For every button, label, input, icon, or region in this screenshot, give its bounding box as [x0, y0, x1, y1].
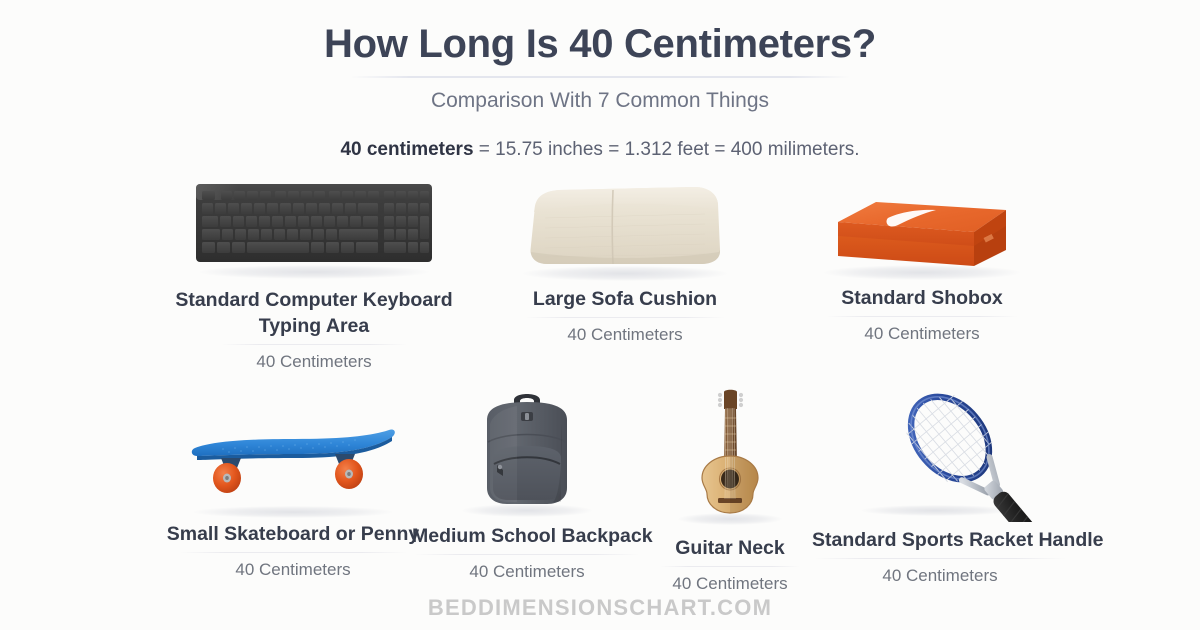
label-divider	[221, 344, 407, 345]
item-label: Standard Shobox	[790, 286, 1054, 312]
item-measure: 40 Centimeters	[790, 324, 1054, 344]
label-divider	[414, 554, 640, 555]
header: How Long Is 40 Centimeters? Comparison W…	[0, 0, 1200, 161]
tennis-racket-icon	[840, 386, 1040, 522]
item-label: Standard Computer Keyboard Typing Area	[160, 288, 468, 340]
item-label: Small Skateboard or Penny	[148, 522, 438, 548]
item-label: Guitar Neck	[648, 536, 812, 562]
keyboard-icon	[194, 178, 434, 278]
skateboard-icon	[183, 416, 403, 516]
comparison-item-tennis-racket: Standard Sports Racket Handle 40 Centime…	[812, 386, 1068, 586]
item-label: Standard Sports Racket Handle	[812, 528, 1068, 554]
conversion-equivalents: = 15.75 inches = 1.312 feet = 400 milime…	[474, 139, 860, 160]
comparison-item-backpack: Medium School Backpack 40 Centimeters	[412, 384, 642, 582]
page-subtitle: Comparison With 7 Common Things	[0, 89, 1200, 113]
title-divider	[350, 76, 850, 78]
shoebox-icon	[824, 178, 1020, 278]
comparison-item-keyboard: Standard Computer Keyboard Typing Area 4…	[160, 178, 468, 372]
label-divider	[660, 566, 800, 567]
item-measure: 40 Centimeters	[812, 566, 1068, 586]
item-measure: 40 Centimeters	[648, 574, 812, 594]
item-measure: 40 Centimeters	[492, 325, 758, 345]
footer-site-name: BEDDIMENSIONSCHART.COM	[0, 595, 1200, 621]
comparison-item-guitar: Guitar Neck 40 Centimeters	[648, 386, 812, 594]
comparison-item-shoebox: Standard Shobox 40 Centimeters	[790, 178, 1054, 344]
comparison-row-1: Standard Computer Keyboard Typing Area 4…	[0, 178, 1200, 368]
conversion-line: 40 centimeters = 15.75 inches = 1.312 fe…	[0, 139, 1200, 161]
label-divider	[814, 558, 1066, 559]
item-label: Large Sofa Cushion	[492, 287, 758, 313]
backpack-icon	[457, 384, 597, 516]
guitar-icon	[680, 386, 780, 524]
item-measure: 40 Centimeters	[412, 562, 642, 582]
conversion-value: 40 centimeters	[340, 139, 473, 160]
sofa-cushion-icon	[525, 178, 725, 278]
comparison-item-sofa-cushion: Large Sofa Cushion 40 Centimeters	[492, 178, 758, 345]
item-measure: 40 Centimeters	[160, 352, 468, 372]
label-divider	[826, 316, 1018, 317]
item-measure: 40 Centimeters	[148, 560, 438, 580]
page-title: How Long Is 40 Centimeters?	[0, 22, 1200, 66]
comparison-item-skateboard: Small Skateboard or Penny 40 Centimeters	[148, 416, 438, 580]
item-label: Medium School Backpack	[412, 524, 642, 550]
label-divider	[179, 552, 407, 553]
label-divider	[525, 317, 725, 318]
comparison-grid: Standard Computer Keyboard Typing Area 4…	[0, 178, 1200, 606]
comparison-row-2: Small Skateboard or Penny 40 Centimeters	[0, 376, 1200, 606]
